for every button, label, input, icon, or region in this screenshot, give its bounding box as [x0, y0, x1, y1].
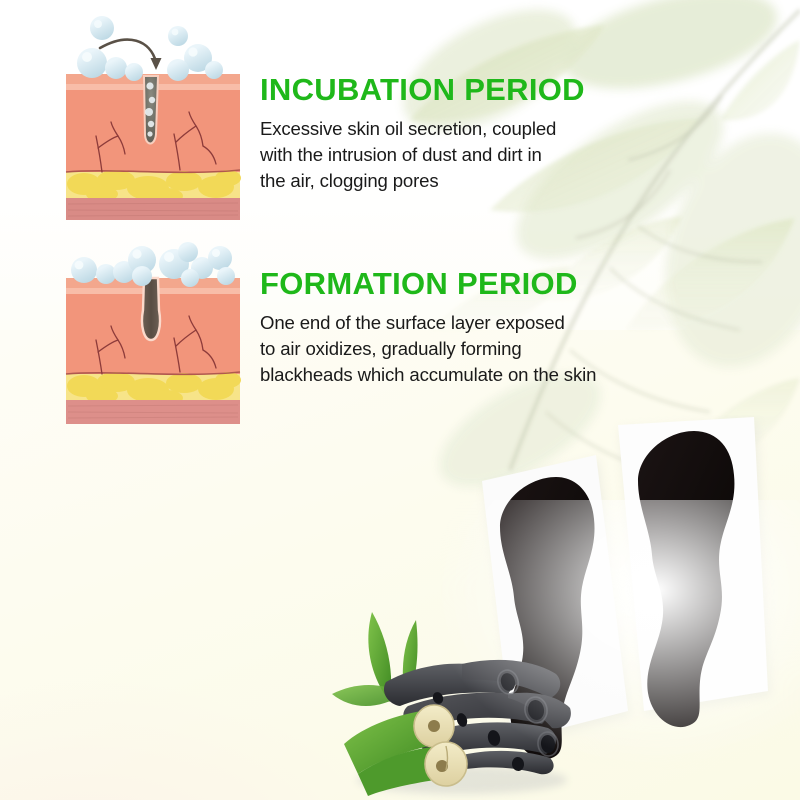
- body-line: blackheads which accumulate on the skin: [260, 362, 700, 388]
- background-highlight-bottom-right: [440, 500, 800, 800]
- infographic-canvas: INCUBATION PERIOD Excessive skin oil sec…: [0, 0, 800, 800]
- body-line: with the intrusion of dust and dirt in: [260, 142, 660, 168]
- diagram-incubation-skin: [62, 6, 244, 228]
- section-incubation-text: INCUBATION PERIOD Excessive skin oil sec…: [260, 74, 660, 194]
- section-formation-text: FORMATION PERIOD One end of the surface …: [260, 268, 700, 388]
- headline-incubation: INCUBATION PERIOD: [260, 74, 660, 107]
- headline-formation: FORMATION PERIOD: [260, 268, 700, 301]
- body-formation: One end of the surface layer exposed to …: [260, 310, 700, 388]
- body-line: the air, clogging pores: [260, 168, 660, 194]
- diagram-formation-skin: [62, 238, 244, 430]
- body-incubation: Excessive skin oil secretion, coupled wi…: [260, 116, 660, 194]
- body-line: One end of the surface layer exposed: [260, 310, 700, 336]
- body-line: to air oxidizes, gradually forming: [260, 336, 700, 362]
- body-line: Excessive skin oil secretion, coupled: [260, 116, 660, 142]
